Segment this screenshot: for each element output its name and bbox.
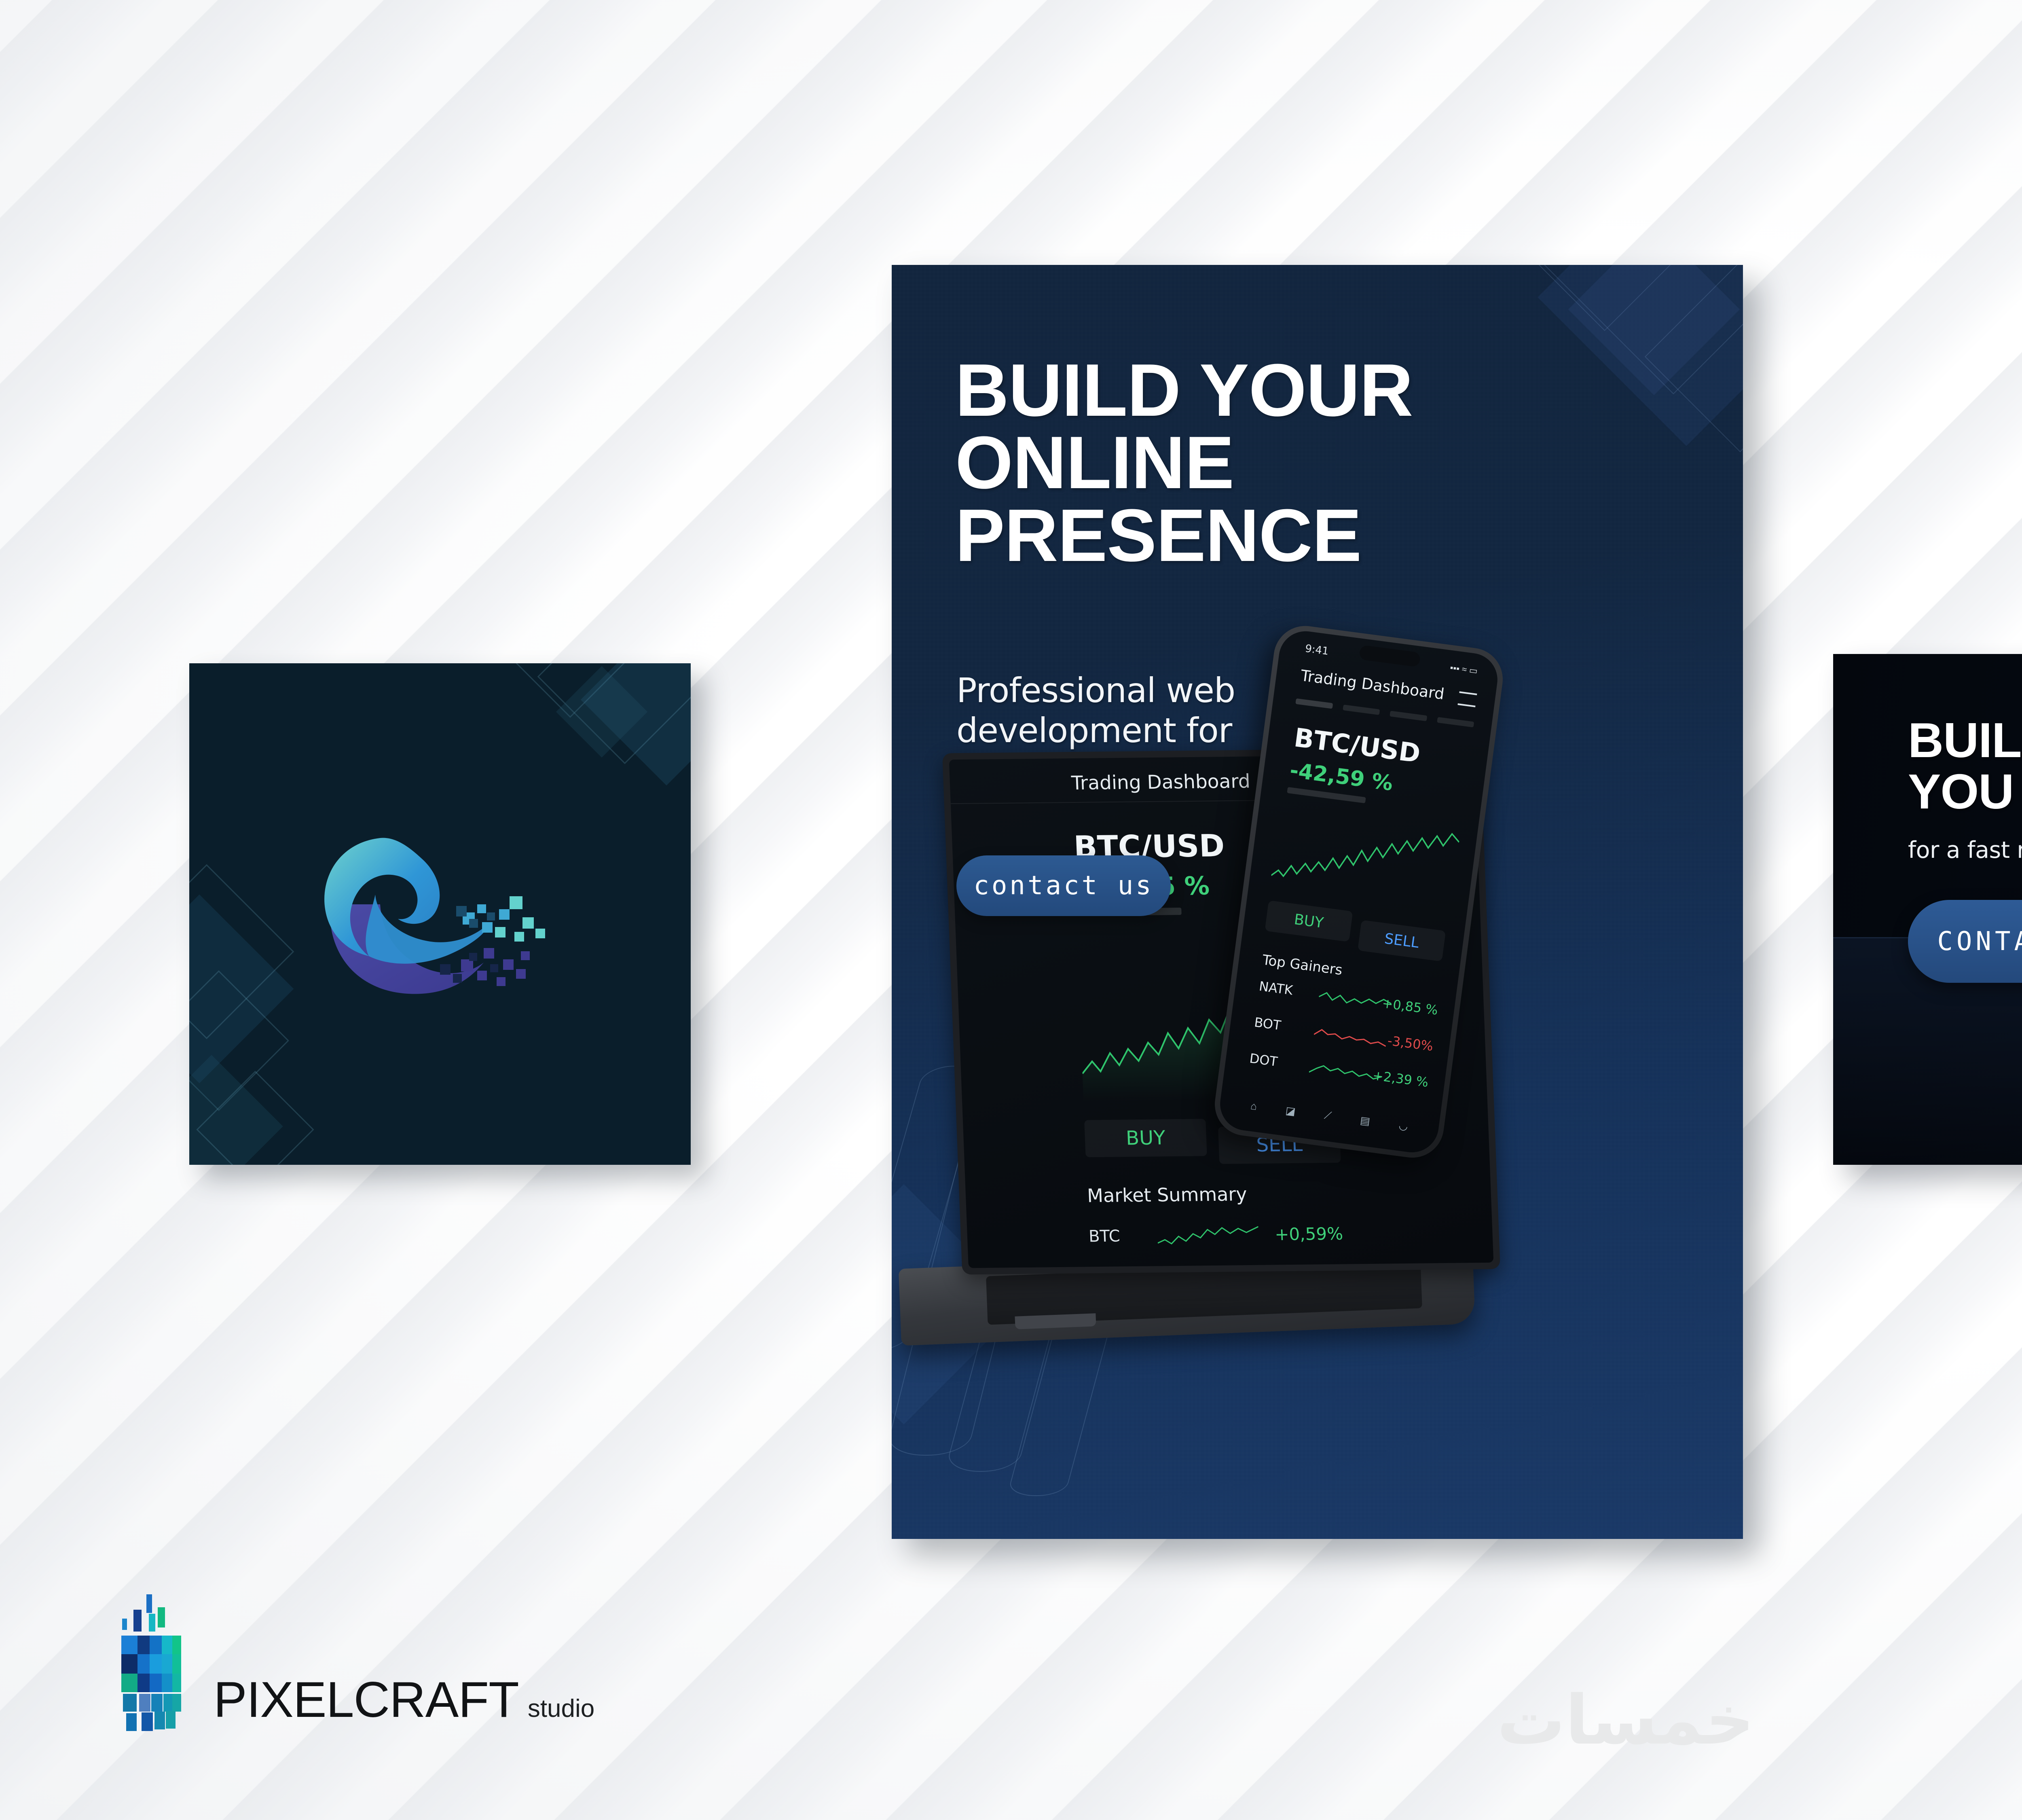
- poster-headline-line-2: ONLINE: [955, 426, 1481, 499]
- gainer-symbol: NATK: [1258, 978, 1294, 998]
- banner-mockup[interactable]: BUILD THE WEBSITE YOU DESERVE for a fast…: [1833, 654, 2022, 1165]
- studio-brand-lockup: PIXELCRAFT studio: [117, 1594, 594, 1739]
- poster-headline-line-3: PRESENCE: [955, 499, 1481, 571]
- nav-chart-icon[interactable]: ◪: [1285, 1104, 1296, 1118]
- studio-name: PIXELCRAFT studio: [214, 1671, 594, 1739]
- laptop-screen-title: Trading Dashboard: [1071, 770, 1251, 794]
- nav-home-icon[interactable]: ⌂: [1250, 1099, 1258, 1113]
- wave-pixel-icon: [302, 809, 594, 1027]
- nav-profile-icon[interactable]: ◡: [1398, 1119, 1409, 1132]
- gainer-sparkline: [1318, 985, 1393, 1017]
- phone-notch: [1359, 645, 1421, 667]
- studio-name-secondary: studio: [528, 1694, 594, 1723]
- gainer-sparkline: [1313, 1021, 1388, 1053]
- poster-mockup[interactable]: BUILD YOUR ONLINE PRESENCE Professional …: [892, 265, 1743, 1539]
- studio-name-primary: PIXELCRAFT: [214, 1671, 519, 1729]
- poster-headline: BUILD YOUR ONLINE PRESENCE: [955, 354, 1481, 571]
- pixel-mosaic-icon: [117, 1594, 194, 1739]
- poster-headline-line-1: BUILD YOUR: [955, 354, 1481, 426]
- phone-top-gainers-label: Top Gainers: [1261, 952, 1343, 979]
- banner-headline-line-1: BUILD THE WEBSITE: [1908, 715, 2022, 766]
- laptop-market-summary-label: Market Summary: [1087, 1183, 1247, 1206]
- gainer-symbol: BOT: [1253, 1014, 1282, 1033]
- banner-contact-us-button[interactable]: CONTACT US: [1908, 900, 2022, 983]
- nav-trade-icon[interactable]: ⟋: [1323, 1109, 1332, 1123]
- laptop-summary-sparkline: [1157, 1223, 1259, 1249]
- laptop-buy-button[interactable]: BUY: [1084, 1119, 1207, 1157]
- phone-price-chart: [1269, 799, 1462, 915]
- phone-screen-title: Trading Dashboard: [1300, 667, 1445, 703]
- gainer-change: -3,50%: [1387, 1033, 1434, 1054]
- phone-status-icons: ▪▪▪ ≈ ▭: [1449, 662, 1478, 677]
- gainer-sparkline: [1308, 1057, 1383, 1089]
- phone-sell-button[interactable]: SELL: [1358, 920, 1446, 962]
- poster-contact-us-button[interactable]: contact us: [956, 855, 1171, 916]
- banner-headline-line-2: YOU DESERVE: [1908, 766, 2022, 817]
- phone-menu-icon[interactable]: [1457, 691, 1477, 707]
- nav-wallet-icon[interactable]: ▤: [1360, 1114, 1371, 1128]
- banner-headline: BUILD THE WEBSITE YOU DESERVE: [1908, 715, 2022, 817]
- gainer-symbol: DOT: [1249, 1050, 1279, 1069]
- banner-subheadline: for a fast reliable and professional web…: [1908, 837, 2022, 863]
- logo-tile-card[interactable]: [189, 663, 691, 1165]
- phone-buy-button[interactable]: BUY: [1265, 900, 1353, 942]
- phone-status-time: 9:41: [1304, 643, 1329, 658]
- laptop-summary-symbol: BTC: [1088, 1227, 1120, 1246]
- laptop-summary-change: +0,59%: [1274, 1224, 1343, 1244]
- site-watermark: خمسات: [1423, 1680, 1828, 1760]
